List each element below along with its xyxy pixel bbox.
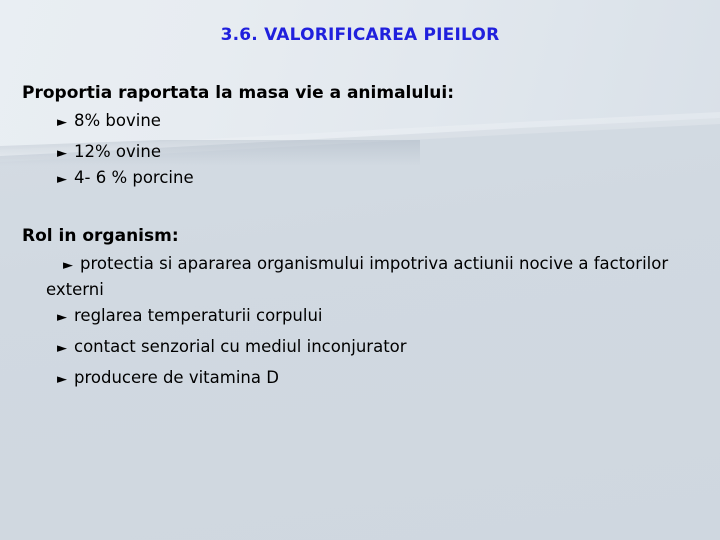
bullet-triangle-icon: ► [57, 147, 67, 160]
list-item: ► 4- 6 % porcine [57, 168, 194, 187]
list-item: ► reglarea temperaturii corpului [57, 306, 323, 325]
section-heading-proportia: Proportia raportata la masa vie a animal… [22, 83, 454, 103]
slide-content: 3.6. VALORIFICAREA PIEILOR Proportia rap… [0, 0, 720, 540]
list-item-label: producere de vitamina D [74, 368, 279, 387]
list-item-label: 12% ovine [74, 142, 161, 161]
bullet-triangle-icon: ► [57, 342, 67, 355]
bullet-triangle-icon: ► [57, 373, 67, 386]
list-item-label-continuation: externi [46, 280, 104, 299]
slide-canvas: 3.6. VALORIFICAREA PIEILOR Proportia rap… [0, 0, 720, 540]
list-item-label: protectia si apararea organismului impot… [80, 254, 668, 273]
section-heading-rol-in-organism: Rol in organism: [22, 226, 179, 246]
bullet-triangle-icon: ► [57, 173, 67, 186]
bullet-triangle-icon: ► [57, 311, 67, 324]
list-item: ► producere de vitamina D [57, 368, 279, 387]
list-item: ► 12% ovine [57, 142, 161, 161]
bullet-triangle-icon: ► [57, 116, 67, 129]
list-item-label: contact senzorial cu mediul inconjurator [74, 337, 407, 356]
list-item: ► protectia si apararea organismului imp… [63, 254, 668, 273]
list-item-label: reglarea temperaturii corpului [74, 306, 323, 325]
slide-title: 3.6. VALORIFICAREA PIEILOR [0, 25, 720, 45]
list-item-label: 4- 6 % porcine [74, 168, 194, 187]
bullet-triangle-icon: ► [63, 259, 73, 272]
list-item-label: 8% bovine [74, 111, 161, 130]
list-item: ► 8% bovine [57, 111, 161, 130]
list-item: ► contact senzorial cu mediul inconjurat… [57, 337, 407, 356]
